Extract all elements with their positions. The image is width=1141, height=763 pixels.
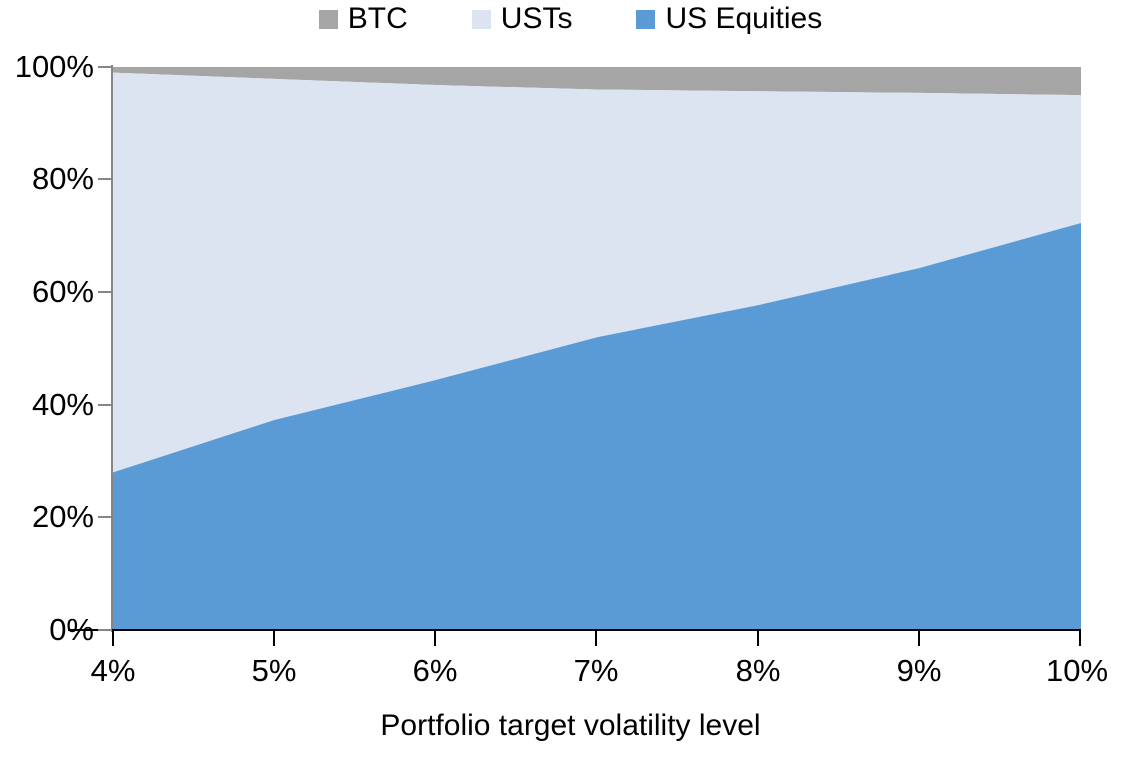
x-axis-label-6: 6% bbox=[365, 654, 505, 688]
legend-label-us-equities: US Equities bbox=[665, 4, 822, 34]
plot-svg bbox=[113, 67, 1081, 630]
y-axis-label-0: 0% bbox=[0, 614, 94, 645]
x-axis-title: Portfolio target volatility level bbox=[0, 709, 1141, 743]
x-tick-6 bbox=[434, 631, 436, 646]
y-tick-80 bbox=[98, 178, 112, 180]
x-tick-9 bbox=[918, 631, 920, 646]
y-tick-100 bbox=[98, 66, 112, 68]
x-axis-label-8: 8% bbox=[688, 654, 828, 688]
y-tick-40 bbox=[98, 404, 112, 406]
x-tick-7 bbox=[595, 631, 597, 646]
stacked-area-chart: BTC USTs US Equities 100% 80% 60% 40% 20… bbox=[0, 0, 1141, 763]
x-tick-5 bbox=[273, 631, 275, 646]
y-axis-label-40: 40% bbox=[0, 389, 94, 420]
x-tick-8 bbox=[757, 631, 759, 646]
x-tick-10 bbox=[1079, 631, 1081, 646]
y-axis-label-20: 20% bbox=[0, 501, 94, 532]
chart-legend: BTC USTs US Equities bbox=[0, 4, 1141, 34]
x-tick-4 bbox=[112, 631, 114, 646]
y-axis-label-100: 100% bbox=[0, 51, 94, 82]
y-tick-60 bbox=[98, 291, 112, 293]
y-tick-0 bbox=[98, 629, 112, 631]
legend-swatch-us-equities bbox=[636, 10, 655, 29]
y-tick-20 bbox=[98, 516, 112, 518]
x-axis-label-9: 9% bbox=[849, 654, 989, 688]
x-axis-label-5: 5% bbox=[204, 654, 344, 688]
legend-label-btc: BTC bbox=[348, 4, 408, 34]
legend-swatch-btc bbox=[319, 10, 338, 29]
plot-area bbox=[113, 67, 1081, 630]
x-axis-label-7: 7% bbox=[526, 654, 666, 688]
legend-entry-usts[interactable]: USTs bbox=[472, 4, 573, 34]
legend-label-usts: USTs bbox=[501, 4, 573, 34]
x-axis-label-4: 4% bbox=[43, 654, 183, 688]
x-axis-line bbox=[68, 629, 1081, 631]
y-axis-label-60: 60% bbox=[0, 276, 94, 307]
x-axis-label-10: 10% bbox=[1007, 654, 1141, 688]
y-axis-label-80: 80% bbox=[0, 163, 94, 194]
legend-entry-btc[interactable]: BTC bbox=[319, 4, 408, 34]
y-axis-line bbox=[111, 65, 113, 632]
legend-entry-us-equities[interactable]: US Equities bbox=[636, 4, 822, 34]
legend-swatch-usts bbox=[472, 10, 491, 29]
